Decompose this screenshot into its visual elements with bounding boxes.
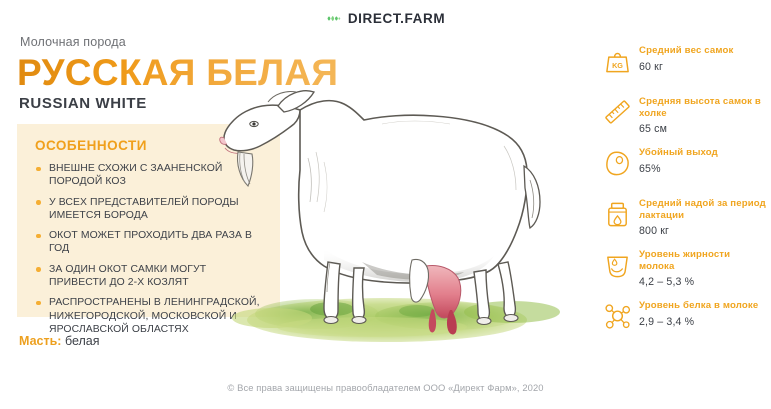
- stat-label: Уровень жирности молока: [639, 249, 768, 272]
- leaf-stripes-icon: [326, 12, 341, 25]
- logo-text: DIRECT.FARM: [348, 11, 445, 26]
- breed-kicker: Молочная порода: [20, 35, 126, 49]
- stat-label: Убойный выход: [639, 147, 768, 159]
- stat-value: 800 кг: [639, 225, 768, 237]
- milk-can-icon: [603, 199, 632, 229]
- page-subtitle: RUSSIAN WHITE: [19, 95, 147, 112]
- stat-milk-fat: Уровень жирности молока 4,2 – 5,3 %: [603, 249, 768, 291]
- protein-molecule-icon: [603, 301, 632, 331]
- stat-average-weight: KG Средний вес самок 60 кг: [603, 45, 768, 87]
- copyright-footer: © Все права защищены правообладателем ОО…: [0, 382, 771, 393]
- stat-value: 65%: [639, 163, 768, 175]
- stat-milk-yield: Средний надой за период лактации 800 кг: [603, 198, 768, 240]
- stat-value: 65 см: [639, 123, 768, 135]
- stat-label: Уровень белка в молоке: [639, 300, 768, 312]
- stat-value: 60 кг: [639, 61, 768, 73]
- goat-body: [299, 101, 527, 283]
- stats-panel: KG Средний вес самок 60 кг Средняя высот…: [603, 45, 768, 351]
- milk-glass-drop-icon: [603, 250, 632, 280]
- coat-color-line: Масть: белая: [19, 334, 100, 348]
- stat-milk-protein: Уровень белка в молоке 2,9 – 3,4 %: [603, 300, 768, 342]
- stat-slaughter-yield: Убойный выход 65%: [603, 147, 768, 189]
- ruler-icon: [603, 97, 632, 127]
- weight-kg-icon: KG: [603, 46, 632, 76]
- svg-text:KG: KG: [612, 61, 623, 70]
- coat-color-label: Масть:: [19, 334, 61, 348]
- stat-label: Средний надой за период лактации: [639, 198, 768, 221]
- meat-cut-icon: [603, 148, 632, 178]
- stat-value: 4,2 – 5,3 %: [639, 276, 768, 288]
- white-goat-illustration: [212, 62, 612, 362]
- infographic-page: DIRECT.FARM Молочная порода РУССКАЯ БЕЛА…: [0, 0, 771, 409]
- coat-color-value: белая: [65, 334, 100, 348]
- brand-logo: DIRECT.FARM: [0, 11, 771, 26]
- stat-label: Средний вес самок: [639, 45, 768, 57]
- stat-label: Средняя высота самок в холке: [639, 96, 768, 119]
- stat-average-height: Средняя высота самок в холке 65 см: [603, 96, 768, 138]
- goat-tail: [524, 166, 540, 228]
- stat-value: 2,9 – 3,4 %: [639, 316, 768, 328]
